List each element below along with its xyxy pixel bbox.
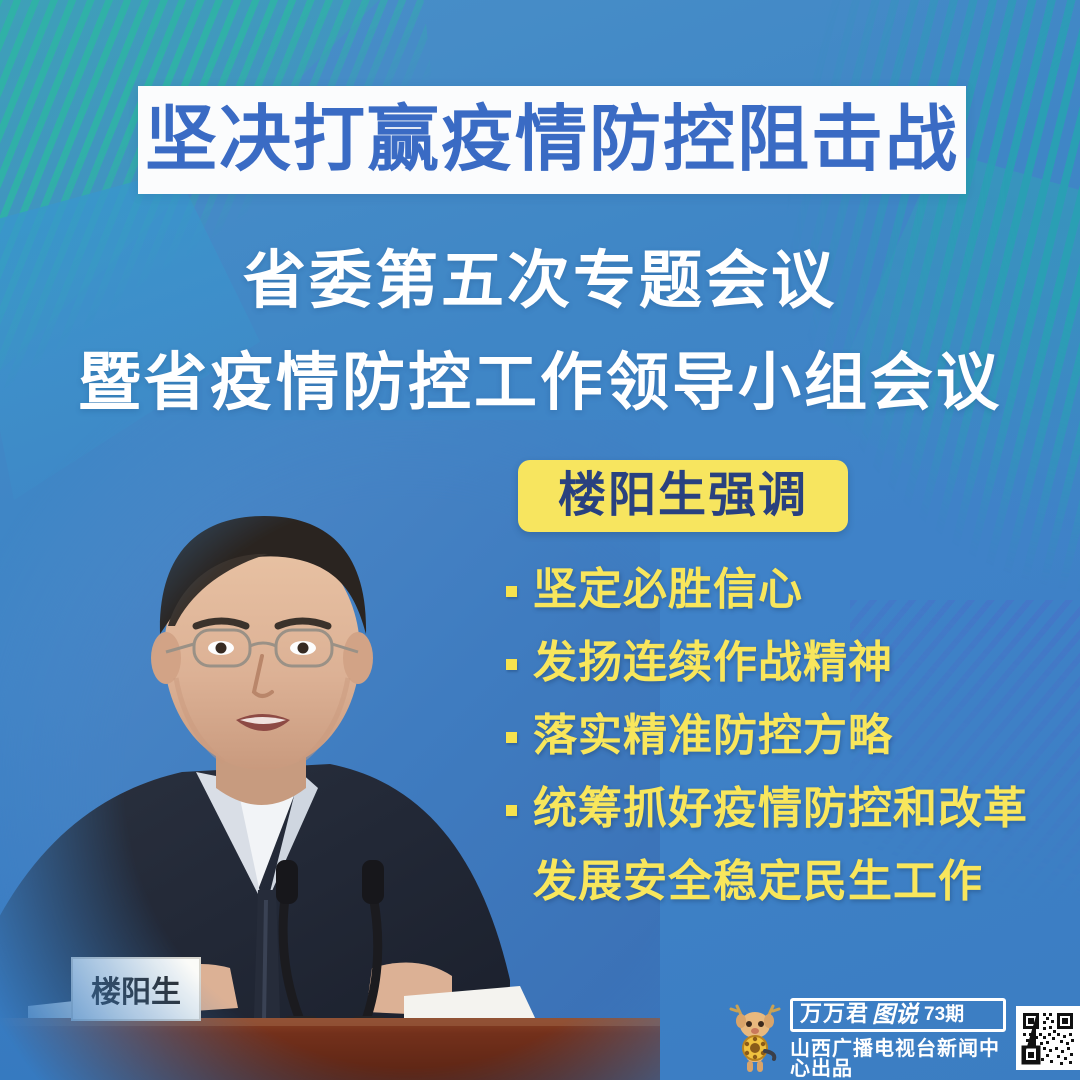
key-point-text: 坚定必胜信心	[533, 560, 803, 619]
svg-text:楼阳生: 楼阳生	[91, 975, 181, 1010]
speaker-emphasis-badge: 楼阳生强调	[518, 460, 848, 532]
list-item: 坚定必胜信心	[506, 560, 1066, 633]
subtitle-line-2: 暨省疫情防控工作领导小组会议	[0, 352, 1080, 415]
nameplate-group: 楼阳生	[72, 958, 200, 1020]
key-point-text: 落实精准防控方略	[533, 706, 893, 765]
bullet-square-icon	[506, 586, 517, 597]
bullet-square-icon	[506, 732, 517, 743]
list-item-continuation: 发展安全稳定民生工作	[506, 852, 1066, 925]
producer-text: 山西广播电视台新闻中心出品	[790, 1039, 1006, 1079]
poster-root: 楼阳生 坚决打赢疫情防控阻击战 省委第五次专题会议 暨省疫情防控工作领导小组会议…	[0, 0, 1080, 1080]
brand-name: 万万君	[800, 1003, 869, 1025]
key-points-list: 坚定必胜信心 发扬连续作战精神 落实精准防控方略 统筹抓好疫情防控和改革 发展安…	[506, 560, 1066, 925]
key-point-text: 统筹抓好疫情防控和改革	[533, 779, 1028, 838]
qr-code-icon[interactable]	[1016, 1006, 1080, 1070]
brand-text-block: 万万君 图说 73期 山西广播电视台新闻中心出品	[790, 998, 1006, 1079]
key-point-text: 发扬连续作战精神	[533, 633, 893, 692]
list-item: 发扬连续作战精神	[506, 633, 1066, 706]
brand-script-name: 图说	[872, 1003, 918, 1026]
issue-number: 73期	[924, 1005, 964, 1024]
key-point-text-continued: 发展安全稳定民生工作	[506, 852, 983, 911]
brand-logo: 万万君 图说 73期	[790, 998, 1006, 1032]
subtitle-line-1: 省委第五次专题会议	[0, 250, 1080, 313]
list-item: 落实精准防控方略	[506, 706, 1066, 779]
bullet-square-icon	[506, 805, 517, 816]
speaker-emphasis-label: 楼阳生强调	[558, 472, 808, 520]
list-item: 统筹抓好疫情防控和改革	[506, 779, 1066, 852]
headline-text: 坚决打赢疫情防控阻击战	[145, 104, 959, 176]
bullet-square-icon	[506, 659, 517, 670]
headline-banner: 坚决打赢疫情防控阻击战	[138, 86, 966, 194]
deer-mascot-icon	[724, 1001, 786, 1075]
footer-branding: 万万君 图说 73期 山西广播电视台新闻中心出品	[718, 996, 1080, 1080]
